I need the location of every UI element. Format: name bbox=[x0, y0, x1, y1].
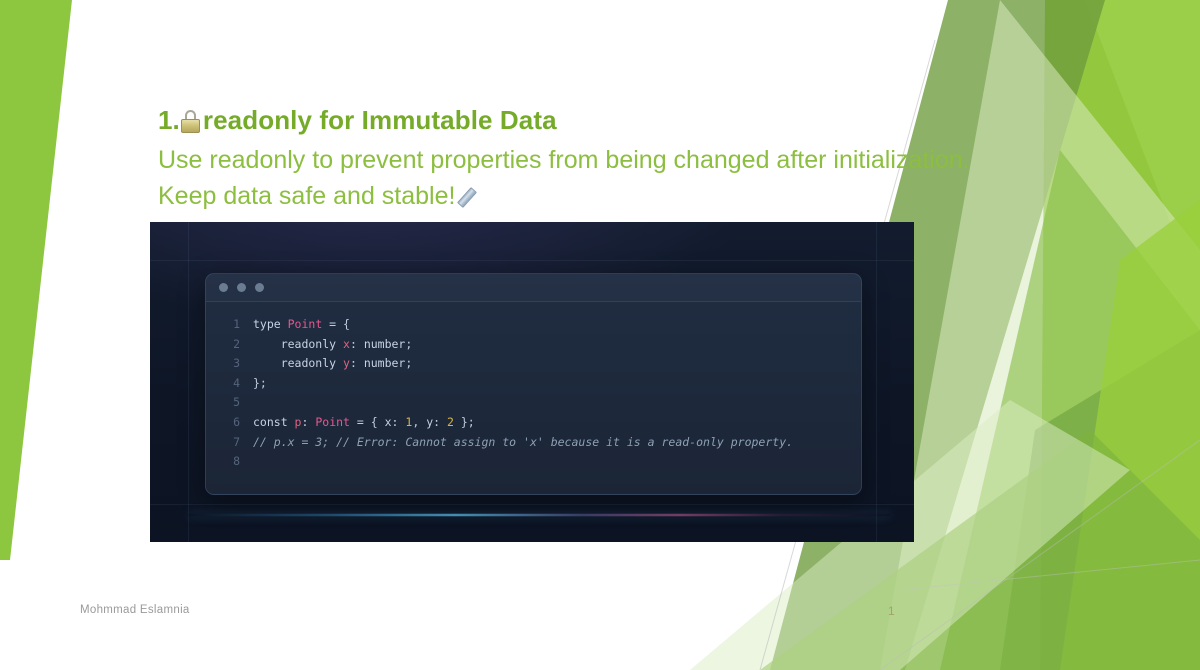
code-line: 1type Point = { bbox=[206, 315, 861, 335]
deco-left-wedge bbox=[0, 0, 72, 560]
code-line: 4}; bbox=[206, 374, 861, 394]
code-token: readonly bbox=[253, 356, 343, 370]
code-line-number: 6 bbox=[206, 413, 253, 433]
code-line-text: type Point = { bbox=[253, 315, 350, 335]
slide-title: 1.readonly for Immutable Data bbox=[158, 104, 998, 137]
code-token: }; bbox=[454, 415, 475, 429]
code-token: ; bbox=[405, 356, 412, 370]
code-window[interactable]: 1type Point = {2 readonly x: number;3 re… bbox=[205, 273, 862, 495]
deco-hairline-2 bbox=[880, 440, 1200, 670]
code-line-text: readonly y: number; bbox=[253, 354, 412, 374]
footer-author-name: Mohmmad Eslamnia bbox=[80, 604, 190, 616]
deco-right-bright-1 bbox=[1040, 0, 1200, 670]
code-panel: 1type Point = {2 readonly x: number;3 re… bbox=[150, 222, 914, 542]
code-token: 2 bbox=[447, 415, 454, 429]
code-line: 3 readonly y: number; bbox=[206, 354, 861, 374]
code-line-number: 4 bbox=[206, 374, 253, 394]
code-token: number bbox=[364, 356, 406, 370]
code-token: const bbox=[253, 415, 295, 429]
grid-line-horizontal bbox=[150, 504, 914, 505]
code-line-text: readonly x: number; bbox=[253, 335, 412, 355]
lock-icon bbox=[181, 110, 200, 133]
deco-right-dark-2 bbox=[1000, 330, 1200, 670]
code-token: : bbox=[301, 415, 315, 429]
code-line-number: 8 bbox=[206, 452, 253, 472]
code-token: x bbox=[343, 337, 350, 351]
code-token: }; bbox=[253, 376, 267, 390]
code-line-text: // p.x = 3; // Error: Cannot assign to '… bbox=[253, 433, 793, 453]
code-line-number: 5 bbox=[206, 393, 253, 413]
deco-right-bright-3 bbox=[1060, 200, 1200, 670]
title-block: 1.readonly for Immutable Data Use readon… bbox=[158, 104, 998, 214]
code-token: = { bbox=[350, 415, 385, 429]
window-dot-icon[interactable] bbox=[237, 283, 246, 292]
code-line: 8 bbox=[206, 452, 861, 472]
code-token: , bbox=[412, 415, 426, 429]
code-token: = { bbox=[322, 317, 350, 331]
code-line: 2 readonly x: number; bbox=[206, 335, 861, 355]
deco-right-mid-1 bbox=[940, 150, 1200, 670]
code-line: 5 bbox=[206, 393, 861, 413]
code-token: : bbox=[350, 337, 364, 351]
body-text: Use readonly to prevent properties from … bbox=[158, 146, 970, 210]
window-dot-icon[interactable] bbox=[255, 283, 264, 292]
window-dot-icon[interactable] bbox=[219, 283, 228, 292]
grid-line-vertical bbox=[876, 222, 877, 542]
code-line: 6const p: Point = { x: 1, y: 2 }; bbox=[206, 413, 861, 433]
code-token: : bbox=[433, 415, 447, 429]
code-token: // p.x = 3; // Error: Cannot assign to '… bbox=[253, 435, 793, 449]
code-token: : bbox=[350, 356, 364, 370]
grid-line-vertical bbox=[188, 222, 189, 542]
grid-line-horizontal bbox=[150, 260, 914, 261]
code-line-number: 1 bbox=[206, 315, 253, 335]
code-editor-area[interactable]: 1type Point = {2 readonly x: number;3 re… bbox=[206, 302, 861, 472]
presentation-slide: 1.readonly for Immutable Data Use readon… bbox=[0, 0, 1200, 670]
slide-body: Use readonly to prevent properties from … bbox=[158, 143, 1018, 214]
pencil-icon bbox=[460, 186, 484, 208]
code-line-text: }; bbox=[253, 374, 267, 394]
code-line-number: 2 bbox=[206, 335, 253, 355]
code-line: 7// p.x = 3; // Error: Cannot assign to … bbox=[206, 433, 861, 453]
code-line-number: 7 bbox=[206, 433, 253, 453]
code-token: y bbox=[343, 356, 350, 370]
code-token: readonly bbox=[253, 337, 343, 351]
code-token: x bbox=[385, 415, 392, 429]
code-token: type bbox=[253, 317, 288, 331]
deco-right-pale-1 bbox=[880, 0, 1200, 670]
code-line-number: 3 bbox=[206, 354, 253, 374]
code-token: Point bbox=[288, 317, 323, 331]
code-token: Point bbox=[315, 415, 350, 429]
title-number: 1. bbox=[158, 105, 180, 135]
deco-hairline-3 bbox=[900, 560, 1200, 590]
code-token: : bbox=[392, 415, 406, 429]
code-token: number bbox=[364, 337, 406, 351]
title-text: readonly for Immutable Data bbox=[203, 105, 557, 135]
accent-glow-line bbox=[188, 514, 890, 516]
page-number: 1 bbox=[888, 604, 895, 618]
code-line-text: const p: Point = { x: 1, y: 2 }; bbox=[253, 413, 475, 433]
code-token: ; bbox=[405, 337, 412, 351]
code-window-titlebar bbox=[206, 274, 861, 302]
